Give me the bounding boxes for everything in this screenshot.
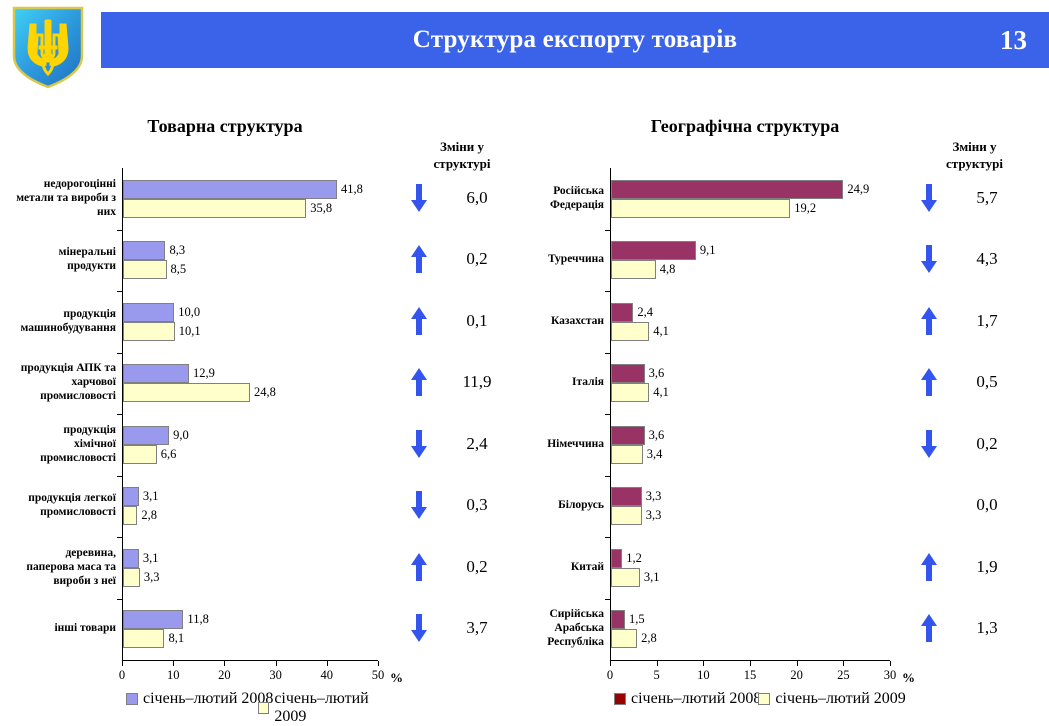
- category-label: РосійськаФедерація: [520, 184, 604, 212]
- category-label-line: Республіка: [520, 635, 604, 649]
- change-value: 0,1: [442, 302, 512, 340]
- bar-value-label: 1,2: [626, 549, 642, 568]
- bar-січень–лютий-2009: [611, 260, 656, 279]
- category-label: СирійськаАрабськаРеспубліка: [520, 607, 604, 649]
- y-axis-tick: [117, 414, 122, 415]
- arrow-up-icon: [410, 552, 428, 582]
- bar-січень–лютий-2009: [123, 383, 250, 402]
- bar-січень–лютий-2008: [123, 426, 169, 445]
- bar-січень–лютий-2009: [123, 629, 164, 648]
- category-label: продукція АПК тахарчовоїпромисловості: [0, 361, 116, 403]
- bar-value-label: 2,4: [637, 303, 653, 322]
- category-label-line: харчової: [0, 375, 116, 389]
- change-row: 0,2: [912, 425, 1032, 465]
- y-axis-tick: [117, 537, 122, 538]
- legend-label: січень–лютий 2008: [143, 690, 273, 708]
- y-axis-tick: [117, 353, 122, 354]
- x-axis-tick-label: 40: [307, 668, 347, 683]
- change-value: 1,7: [952, 302, 1022, 340]
- change-row: 0,2: [402, 548, 522, 588]
- x-axis-tick: [173, 661, 174, 666]
- legend-entry: січень–лютий 2008: [126, 690, 273, 708]
- legend-swatch: [758, 693, 770, 705]
- commodity-structure-chart: недорогоцінніметали та вироби зних41,835…: [0, 160, 400, 675]
- bar-січень–лютий-2009: [123, 506, 137, 525]
- bar-січень–лютий-2009: [123, 260, 167, 279]
- arrow-down-icon: [410, 613, 428, 643]
- bar-січень–лютий-2008: [123, 487, 139, 506]
- category-label: Казахстан: [520, 314, 604, 328]
- bar-value-label: 3,3: [646, 506, 662, 525]
- bar-січень–лютий-2008: [123, 241, 165, 260]
- arrow-up-icon: [410, 306, 428, 336]
- bar-value-label: 1,5: [629, 610, 645, 629]
- change-row: 3,7: [402, 609, 522, 649]
- bar-value-label: 3,6: [649, 364, 665, 383]
- bar-value-label: 3,3: [144, 568, 160, 587]
- slide-header-band: Структура експорту товарів 13: [101, 12, 1049, 68]
- bar-січень–лютий-2008: [611, 549, 622, 568]
- bar-value-label: 3,6: [649, 426, 665, 445]
- y-axis-tick: [117, 476, 122, 477]
- category-label: Німеччина: [520, 437, 604, 451]
- category-label-line: машинобудування: [0, 321, 116, 335]
- x-axis-tick: [657, 661, 658, 666]
- category-label-line: Китай: [520, 560, 604, 574]
- x-axis-tick: [797, 661, 798, 666]
- bar-value-label: 41,8: [341, 180, 363, 199]
- x-axis-tick-label: 20: [204, 668, 244, 683]
- bar-value-label: 24,8: [254, 383, 276, 402]
- change-value: 4,3: [952, 240, 1022, 278]
- x-axis-tick-label: 5: [637, 668, 677, 683]
- arrow-up-icon: [920, 306, 938, 336]
- y-axis-tick: [605, 414, 610, 415]
- legend-swatch: [126, 693, 138, 705]
- bar-січень–лютий-2009: [123, 199, 306, 218]
- bar-value-label: 8,5: [171, 260, 187, 279]
- bar-січень–лютий-2008: [611, 241, 696, 260]
- change-value: 2,4: [442, 425, 512, 463]
- change-row: 1,7: [912, 302, 1032, 342]
- y-axis-tick: [605, 476, 610, 477]
- page-number: 13: [1000, 12, 1027, 68]
- category-label: інші товари: [0, 621, 116, 635]
- arrow-up-icon: [920, 613, 938, 643]
- bar-value-label: 3,4: [647, 445, 663, 464]
- category-label-line: Казахстан: [520, 314, 604, 328]
- change-row: 5,7: [912, 179, 1032, 219]
- y-axis-tick: [605, 599, 610, 600]
- legend-label: січень–лютий 2009: [775, 690, 905, 708]
- left-chart-title: Товарна структура: [60, 116, 390, 137]
- right-changes-header-line1: Зміни у: [912, 138, 1037, 155]
- right-chart-title: Географічна структура: [570, 116, 920, 137]
- category-label: Китай: [520, 560, 604, 574]
- bar-value-label: 35,8: [310, 199, 332, 218]
- left-changes-column: 6,00,20,111,92,40,30,23,7: [402, 160, 522, 675]
- category-label: продукціямашинобудування: [0, 307, 116, 335]
- bar-value-label: 11,8: [187, 610, 208, 629]
- category-label-line: недорогоцінні: [0, 177, 116, 191]
- bar-січень–лютий-2009: [611, 629, 637, 648]
- bar-value-label: 10,1: [179, 322, 201, 341]
- arrow-down-icon: [410, 429, 428, 459]
- bar-value-label: 4,1: [653, 383, 669, 402]
- category-label-line: Білорусь: [520, 498, 604, 512]
- bar-січень–лютий-2008: [611, 303, 633, 322]
- category-label-line: Сирійська: [520, 607, 604, 621]
- change-value: 0,3: [442, 486, 512, 524]
- change-value: 0,2: [442, 240, 512, 278]
- category-label-line: Федерація: [520, 198, 604, 212]
- bar-value-label: 10,0: [178, 303, 200, 322]
- change-value: 0,5: [952, 363, 1022, 401]
- category-label-line: Арабська: [520, 621, 604, 635]
- category-label-line: промисловості: [0, 505, 116, 519]
- legend-entry: січень–лютий 2009: [258, 690, 400, 726]
- bar-value-label: 4,8: [660, 260, 676, 279]
- bar-січень–лютий-2008: [611, 180, 843, 199]
- change-row: 2,4: [402, 425, 522, 465]
- x-axis-line: [122, 660, 378, 661]
- bar-value-label: 9,1: [700, 241, 716, 260]
- change-value: 11,9: [442, 363, 512, 401]
- ukraine-coat-of-arms-icon: [6, 4, 90, 90]
- arrow-up-icon: [410, 367, 428, 397]
- bar-січень–лютий-2009: [611, 568, 640, 587]
- right-changes-column: 5,74,31,70,50,20,01,91,3: [912, 160, 1037, 675]
- bar-січень–лютий-2008: [123, 303, 174, 322]
- bar-value-label: 6,6: [161, 445, 177, 464]
- category-label: Білорусь: [520, 498, 604, 512]
- change-value: 1,3: [952, 609, 1022, 647]
- change-value: 0,2: [442, 548, 512, 586]
- x-axis-tick: [890, 661, 891, 666]
- bar-value-label: 4,1: [653, 322, 669, 341]
- category-label-line: промисловості: [0, 451, 116, 465]
- category-label-line: деревина,: [0, 546, 116, 560]
- category-label: Італія: [520, 375, 604, 389]
- bar-січень–лютий-2008: [611, 426, 645, 445]
- x-axis-tick-label: 15: [730, 668, 770, 683]
- arrow-down-icon: [920, 429, 938, 459]
- change-row: 4,3: [912, 240, 1032, 280]
- category-label: недорогоцінніметали та вироби зних: [0, 177, 116, 219]
- arrow-down-icon: [410, 183, 428, 213]
- bar-січень–лютий-2009: [611, 199, 790, 218]
- y-axis-tick: [117, 230, 122, 231]
- x-axis-tick-label: 0: [590, 668, 630, 683]
- bar-value-label: 12,9: [193, 364, 215, 383]
- category-label-line: мінеральні: [0, 245, 116, 259]
- change-value: 0,0: [952, 486, 1022, 524]
- x-axis-tick-label: 20: [777, 668, 817, 683]
- x-axis-tick-label: 10: [153, 668, 193, 683]
- category-label: Туреччина: [520, 252, 604, 266]
- category-label: мінеральніпродукти: [0, 245, 116, 273]
- arrow-down-icon: [410, 490, 428, 520]
- x-axis-tick-label: 25: [823, 668, 863, 683]
- arrow-up-icon: [410, 244, 428, 274]
- bar-січень–лютий-2009: [123, 445, 157, 464]
- change-value: 0,2: [952, 425, 1022, 463]
- bar-січень–лютий-2008: [123, 364, 189, 383]
- y-axis-tick: [605, 353, 610, 354]
- change-row: 11,9: [402, 363, 522, 403]
- bar-січень–лютий-2009: [611, 506, 642, 525]
- change-row: 0,2: [402, 240, 522, 280]
- bar-value-label: 3,1: [644, 568, 660, 587]
- legend-label: січень–лютий 2008: [631, 690, 761, 708]
- bar-січень–лютий-2008: [123, 610, 183, 629]
- left-changes-header-line1: Зміни у: [402, 138, 522, 155]
- x-axis-tick: [276, 661, 277, 666]
- x-axis-tick: [843, 661, 844, 666]
- legend-entry: січень–лютий 2009: [758, 690, 905, 708]
- geographic-structure-chart: РосійськаФедерація24,919,2Туреччина9,14,…: [520, 160, 920, 675]
- bar-value-label: 2,8: [141, 506, 157, 525]
- category-label-line: Російська: [520, 184, 604, 198]
- x-axis-tick: [703, 661, 704, 666]
- category-label-line: Німеччина: [520, 437, 604, 451]
- category-label: деревина,паперова маса тавироби з неї: [0, 546, 116, 588]
- change-row: 0,1: [402, 302, 522, 342]
- category-label-line: продукти: [0, 259, 116, 273]
- bar-січень–лютий-2008: [611, 364, 645, 383]
- bar-січень–лютий-2008: [123, 549, 139, 568]
- x-axis-tick: [610, 661, 611, 666]
- category-label-line: вироби з неї: [0, 574, 116, 588]
- arrow-down-icon: [920, 244, 938, 274]
- y-axis-tick: [605, 537, 610, 538]
- bar-січень–лютий-2008: [123, 180, 337, 199]
- bar-value-label: 24,9: [847, 180, 869, 199]
- y-axis-tick: [117, 291, 122, 292]
- category-label-line: паперова маса та: [0, 560, 116, 574]
- category-label-line: Туреччина: [520, 252, 604, 266]
- arrow-up-icon: [920, 552, 938, 582]
- change-row: 6,0: [402, 179, 522, 219]
- change-row: 0,0: [912, 486, 1032, 526]
- bar-січень–лютий-2009: [611, 322, 649, 341]
- bar-value-label: 8,1: [168, 629, 184, 648]
- change-row: 0,5: [912, 363, 1032, 403]
- bar-value-label: 19,2: [794, 199, 816, 218]
- change-row: 1,9: [912, 548, 1032, 588]
- x-axis-tick-label: 30: [256, 668, 296, 683]
- category-label-line: промисловості: [0, 389, 116, 403]
- bar-value-label: 2,8: [641, 629, 657, 648]
- bar-value-label: 3,1: [143, 549, 159, 568]
- change-value: 6,0: [442, 179, 512, 217]
- legend-swatch: [614, 693, 626, 705]
- category-label-line: метали та вироби з: [0, 191, 116, 205]
- category-label-line: продукція легкої: [0, 491, 116, 505]
- x-axis-tick: [378, 661, 379, 666]
- category-label-line: продукція: [0, 307, 116, 321]
- category-label-line: хімічної: [0, 437, 116, 451]
- x-axis-tick: [327, 661, 328, 666]
- x-axis-tick: [224, 661, 225, 666]
- arrow-up-icon: [920, 367, 938, 397]
- bar-січень–лютий-2008: [611, 487, 642, 506]
- bar-value-label: 3,3: [646, 487, 662, 506]
- bar-січень–лютий-2008: [611, 610, 625, 629]
- legend-entry: січень–лютий 2008: [614, 690, 761, 708]
- y-axis-tick: [605, 230, 610, 231]
- category-label-line: продукція: [0, 423, 116, 437]
- bar-січень–лютий-2009: [123, 568, 140, 587]
- arrow-down-icon: [920, 183, 938, 213]
- legend-swatch: [258, 702, 270, 714]
- change-value: 5,7: [952, 179, 1022, 217]
- bar-value-label: 8,3: [169, 241, 185, 260]
- x-axis-tick: [750, 661, 751, 666]
- change-row: 1,3: [912, 609, 1032, 649]
- x-axis-tick-label: 10: [683, 668, 723, 683]
- page-title: Структура експорту товарів: [101, 12, 1049, 68]
- bar-січень–лютий-2009: [611, 445, 643, 464]
- bar-value-label: 9,0: [173, 426, 189, 445]
- category-label-line: них: [0, 205, 116, 219]
- x-axis-tick: [122, 661, 123, 666]
- x-axis-tick-label: 0: [102, 668, 142, 683]
- change-row: 0,3: [402, 486, 522, 526]
- y-axis-tick: [117, 599, 122, 600]
- change-value: 3,7: [442, 609, 512, 647]
- category-label: продукція легкоїпромисловості: [0, 491, 116, 519]
- category-label-line: інші товари: [0, 621, 116, 635]
- y-axis-tick: [605, 291, 610, 292]
- legend-label: січень–лютий 2009: [274, 690, 400, 726]
- no-change-icon: [920, 490, 938, 520]
- bar-січень–лютий-2009: [611, 383, 649, 402]
- change-value: 1,9: [952, 548, 1022, 586]
- category-label: продукціяхімічноїпромисловості: [0, 423, 116, 465]
- bar-січень–лютий-2009: [123, 322, 175, 341]
- bar-value-label: 3,1: [143, 487, 159, 506]
- category-label-line: Італія: [520, 375, 604, 389]
- category-label-line: продукція АПК та: [0, 361, 116, 375]
